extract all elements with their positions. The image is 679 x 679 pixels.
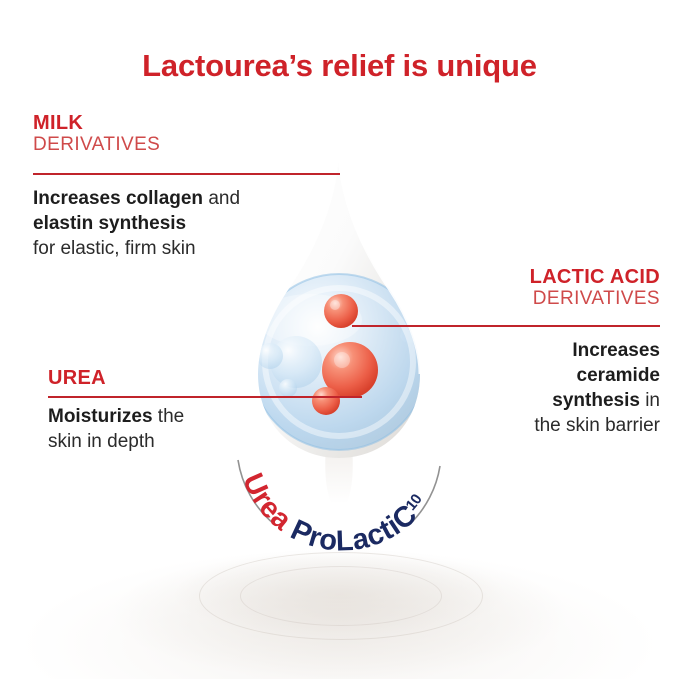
callout-milk-heading: MILK DERIVATIVES xyxy=(33,112,333,156)
urea-body-bold-1: Moisturizes xyxy=(48,406,153,427)
urea-body-reg-2: skin in depth xyxy=(48,431,155,452)
callout-urea-heading: UREA xyxy=(48,367,348,389)
lactic-body-bold-3: synthesis xyxy=(552,390,640,411)
urea-connector-rule xyxy=(48,396,362,398)
lactic-body-bold-1: Increases xyxy=(572,340,660,361)
callout-lactic-body: Increases ceramide synthesis in the skin… xyxy=(400,338,660,438)
milk-body-reg-2: for elastic, firm skin xyxy=(33,238,196,259)
milk-heading-strong: MILK xyxy=(33,112,333,134)
urea-heading-strong: UREA xyxy=(48,367,348,389)
lactic-heading-light: DERIVATIVES xyxy=(360,288,660,310)
callout-milk-body: Increases collagen and elastin synthesis… xyxy=(33,186,333,261)
poster-canvas: Urea ProLactiC10 Lactourea’s relief is u… xyxy=(0,0,679,679)
lactic-body-reg-4: the skin barrier xyxy=(534,415,660,436)
milk-body-reg-1: and xyxy=(203,188,240,209)
milk-ripple-inner xyxy=(240,566,442,626)
lactic-heading-strong: LACTIC ACID xyxy=(360,266,660,288)
milk-heading-light: DERIVATIVES xyxy=(33,134,333,156)
callout-urea-body: Moisturizes the skin in depth xyxy=(48,404,348,454)
urea-body-reg-1: the xyxy=(153,406,185,427)
milk-connector-rule xyxy=(33,173,340,175)
logo-word-prolactic: ProLactiC xyxy=(286,498,424,557)
bubble-small xyxy=(257,343,283,369)
molecule-top xyxy=(324,294,358,328)
lactic-body-bold-2: ceramide xyxy=(577,365,660,386)
page-title: Lactourea’s relief is unique xyxy=(0,48,679,84)
svg-text:Urea ProLactiC10: Urea ProLactiC10 xyxy=(236,469,426,558)
lactic-body-reg-3: in xyxy=(640,390,660,411)
milk-body-bold-2: elastin synthesis xyxy=(33,213,186,234)
callout-lactic-heading: LACTIC ACID DERIVATIVES xyxy=(360,266,660,310)
lactic-connector-rule xyxy=(352,325,660,327)
milk-body-bold-1: Increases collagen xyxy=(33,188,203,209)
